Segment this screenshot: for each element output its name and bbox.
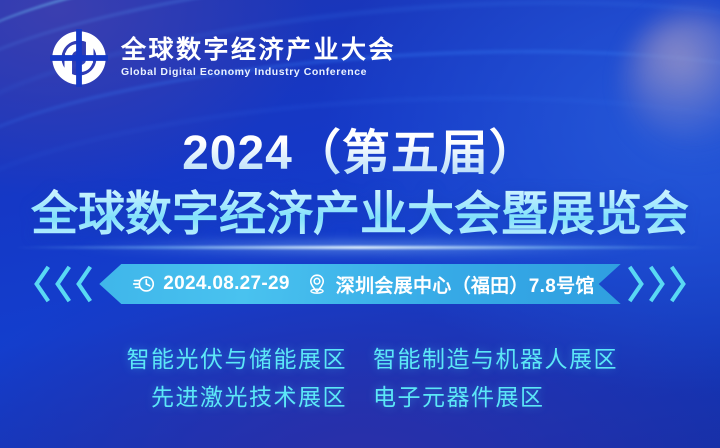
date-text: 2024.08.27-29	[163, 273, 289, 295]
logo-title-cn: 全球数字经济产业大会	[121, 36, 396, 64]
left-chevron-group	[33, 264, 93, 304]
headline-line-1: 2024（第五届）	[0, 113, 720, 183]
light-beam	[14, 246, 705, 249]
clock-icon	[133, 273, 155, 295]
gdec-circular-logo-icon	[50, 29, 108, 87]
venue-item: 深圳会展中心（福田）7.8号馆	[306, 271, 595, 298]
logo-title-en: Global Digital Economy Industry Conferen…	[121, 65, 396, 81]
chevron-left-icon	[54, 264, 72, 304]
info-bar: 2024.08.27-29 深圳会展中心（福田）7.8号馆	[99, 264, 620, 304]
venue-text: 深圳会展中心（福田）7.8号馆	[336, 271, 595, 298]
zone-item: 智能光伏与储能展区	[100, 340, 347, 374]
exhibition-zone-list: 智能光伏与储能展区 智能制造与机器人展区 先进激光技术展区 电子元器件展区	[100, 340, 620, 412]
zone-item: 智能制造与机器人展区	[373, 340, 620, 374]
location-pin-icon	[306, 273, 328, 295]
headline-line-2: 全球数字经济产业大会暨展览会	[0, 175, 720, 244]
chevron-right-icon	[627, 264, 645, 304]
chevron-right-icon	[648, 264, 666, 304]
conference-banner: 全球数字经济产业大会 Global Digital Economy Indust…	[0, 0, 720, 448]
right-chevron-group	[627, 264, 687, 304]
zone-item: 电子元器件展区	[373, 378, 620, 412]
zone-item: 先进激光技术展区	[100, 378, 347, 412]
info-bar-row: 2024.08.27-29 深圳会展中心（福田）7.8号馆	[0, 264, 720, 304]
chevron-right-icon	[669, 264, 687, 304]
date-item: 2024.08.27-29	[133, 273, 289, 295]
chevron-left-icon	[33, 264, 51, 304]
logo-lockup: 全球数字经济产业大会 Global Digital Economy Indust…	[50, 29, 396, 87]
chevron-left-icon	[75, 264, 93, 304]
